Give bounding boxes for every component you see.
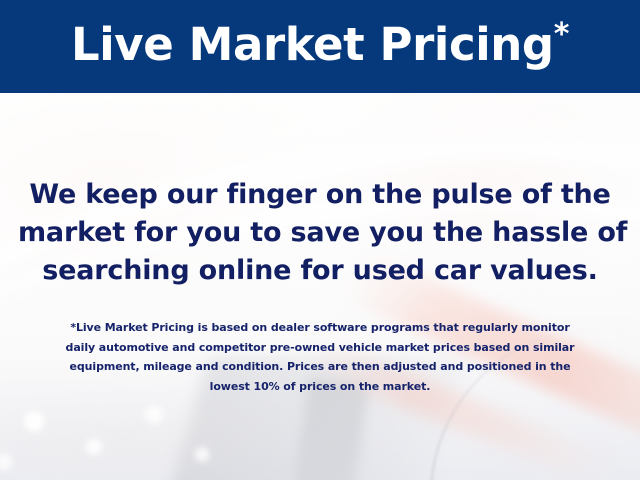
page-title-text: Live Market Pricing (71, 18, 554, 71)
page-title: Live Market Pricing* (71, 22, 569, 71)
headline-line-3: searching online for used car values. (18, 252, 622, 290)
headline-line-1: We keep our finger on the pulse of the (18, 176, 622, 214)
page-title-asterisk: * (554, 17, 569, 52)
fineprint-line-4: lowest 10% of prices on the market. (30, 377, 610, 397)
live-market-pricing-promo-card: Live Market Pricing* We keep our finger … (0, 0, 640, 480)
disclaimer-fineprint: *Live Market Pricing is based on dealer … (30, 318, 610, 396)
fineprint-line-1: *Live Market Pricing is based on dealer … (30, 318, 610, 338)
headline-block: We keep our finger on the pulse of the m… (0, 176, 640, 290)
fineprint-line-3: equipment, mileage and condition. Prices… (30, 357, 610, 377)
headline-line-2: market for you to save you the hassle of (18, 214, 622, 252)
title-banner: Live Market Pricing* (0, 0, 640, 93)
fineprint-line-2: daily automotive and competitor pre-owne… (30, 338, 610, 358)
